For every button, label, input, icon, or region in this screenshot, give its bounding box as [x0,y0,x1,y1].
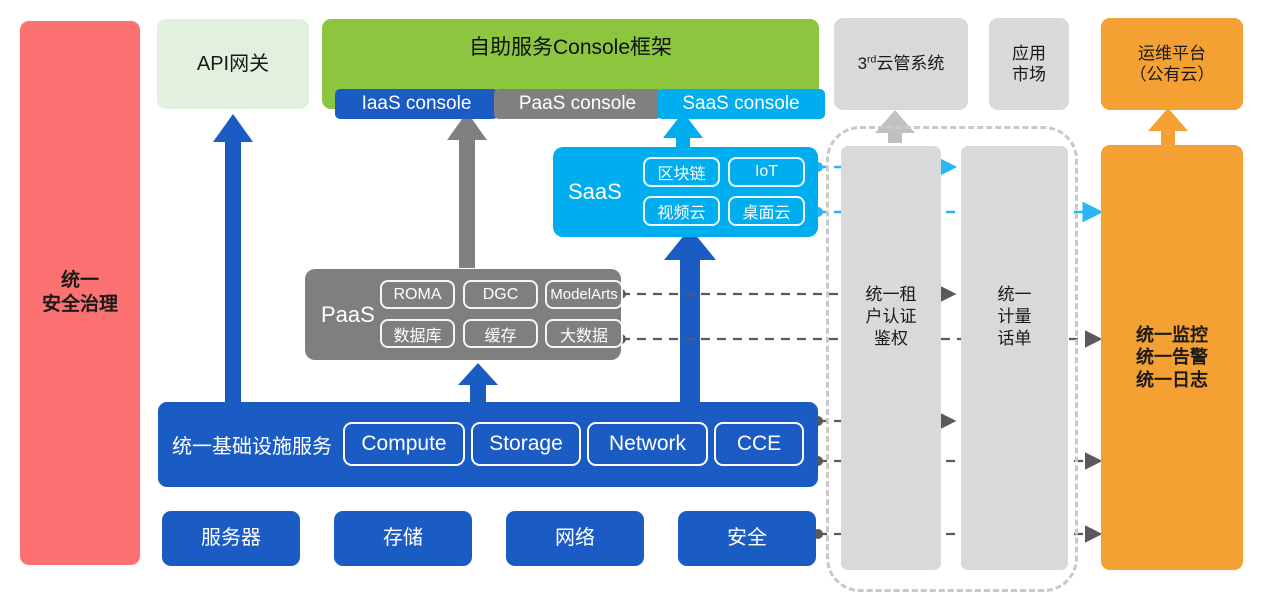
saas-tag-desktop-cloud[interactable]: 桌面云 [728,196,805,226]
saas-tag-iot[interactable]: IoT [728,157,805,187]
resource-box-server[interactable]: 服务器 [162,511,300,566]
ops-monitoring-panel[interactable]: 统一监控 统一告警 统一日志 [1101,145,1243,570]
paas-tag-database[interactable]: 数据库 [380,319,455,348]
arrow-infra-to-saas [664,228,716,404]
resource-box-storage[interactable]: 存储 [334,511,472,566]
api-gateway-box[interactable]: API网关 [157,19,309,109]
paas-tag-dgc[interactable]: DGC [463,280,538,309]
shared-service-column-auth[interactable] [841,146,941,570]
resource-box-network[interactable]: 网络 [506,511,644,566]
saas-tag-blockchain[interactable]: 区块链 [643,157,720,187]
shared-service-auth-label: 统一租 户认证 鉴权 [841,284,941,350]
security-governance-panel[interactable]: 统一 安全治理 [20,21,140,565]
arrow-opspanel-to-opsplatform [1148,108,1188,145]
unified-infrastructure-bar[interactable]: 统一基础设施服务 Compute Storage Network CCE [158,402,818,487]
saas-block[interactable]: SaaS 区块链 IoT 视频云 桌面云 [553,147,818,237]
app-market-box[interactable]: 应用 市场 [989,18,1069,110]
infra-tag-cce[interactable]: CCE [714,422,804,466]
shared-service-column-metering[interactable] [961,146,1068,570]
architecture-diagram: 统一租 户认证 鉴权 统一 计量 话单 统一 安全治理 API网关 自助服务Co… [0,0,1265,605]
infra-tag-network[interactable]: Network [587,422,708,466]
third-party-cloud-mgmt-box[interactable]: 3rd云管系统 [834,18,968,110]
console-frame-title: 自助服务Console框架 [322,31,819,61]
arrow-infra-to-apigw [213,114,253,404]
ops-platform-box[interactable]: 运维平台 （公有云） [1101,18,1243,110]
paas-tag-bigdata[interactable]: 大数据 [545,319,623,348]
infra-tag-storage[interactable]: Storage [471,422,581,466]
paas-tag-roma[interactable]: ROMA [380,280,455,309]
saas-tag-video-cloud[interactable]: 视频云 [643,196,720,226]
paas-block[interactable]: PaaS ROMA DGC ModelArts 数据库 缓存 大数据 [305,269,621,360]
infra-tag-compute[interactable]: Compute [343,422,465,466]
arrow-paas-to-console [447,112,487,268]
saas-label: SaaS [568,179,622,205]
paas-label: PaaS [321,302,375,328]
resource-box-security[interactable]: 安全 [678,511,816,566]
arrow-infra-to-paas [458,363,498,404]
shared-service-metering-label: 统一 计量 话单 [961,284,1068,350]
iaas-console-chip[interactable]: IaaS console [335,89,498,119]
third-party-label: 3rd云管系统 [858,53,945,74]
saas-console-chip[interactable]: SaaS console [657,89,825,119]
paas-tag-modelarts[interactable]: ModelArts [545,280,623,309]
self-service-console-frame[interactable]: 自助服务Console框架 IaaS console PaaS console … [322,19,819,109]
unified-infrastructure-label: 统一基础设施服务 [172,430,332,459]
paas-tag-cache[interactable]: 缓存 [463,319,538,348]
paas-console-chip[interactable]: PaaS console [494,89,661,119]
